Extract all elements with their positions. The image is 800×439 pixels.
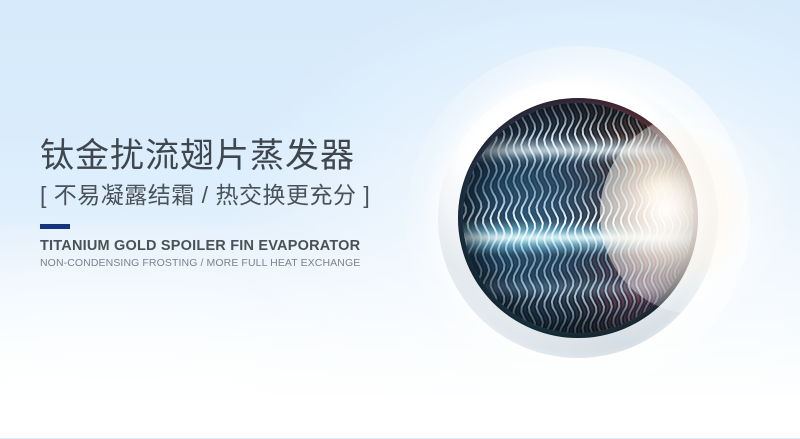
accent-bar (40, 224, 70, 229)
page-title: 钛金扰流翅片蒸发器 (40, 136, 440, 176)
product-feature-banner: 钛金扰流翅片蒸发器 [ 不易凝露结霜 / 热交换更充分 ] TITANIUM G… (0, 0, 800, 439)
subtitle: [ 不易凝露结霜 / 热交换更充分 ] (40, 182, 440, 210)
inner-rim (458, 98, 698, 338)
text-block: 钛金扰流翅片蒸发器 [ 不易凝露结霜 / 热交换更充分 ] TITANIUM G… (40, 136, 440, 269)
english-subtitle: NON-CONDENSING FROSTING / MORE FULL HEAT… (40, 257, 440, 269)
fin-disc (463, 103, 693, 333)
english-title: TITANIUM GOLD SPOILER FIN EVAPORATOR (40, 238, 440, 254)
product-image (432, 72, 724, 364)
disc-vignette (463, 103, 693, 333)
